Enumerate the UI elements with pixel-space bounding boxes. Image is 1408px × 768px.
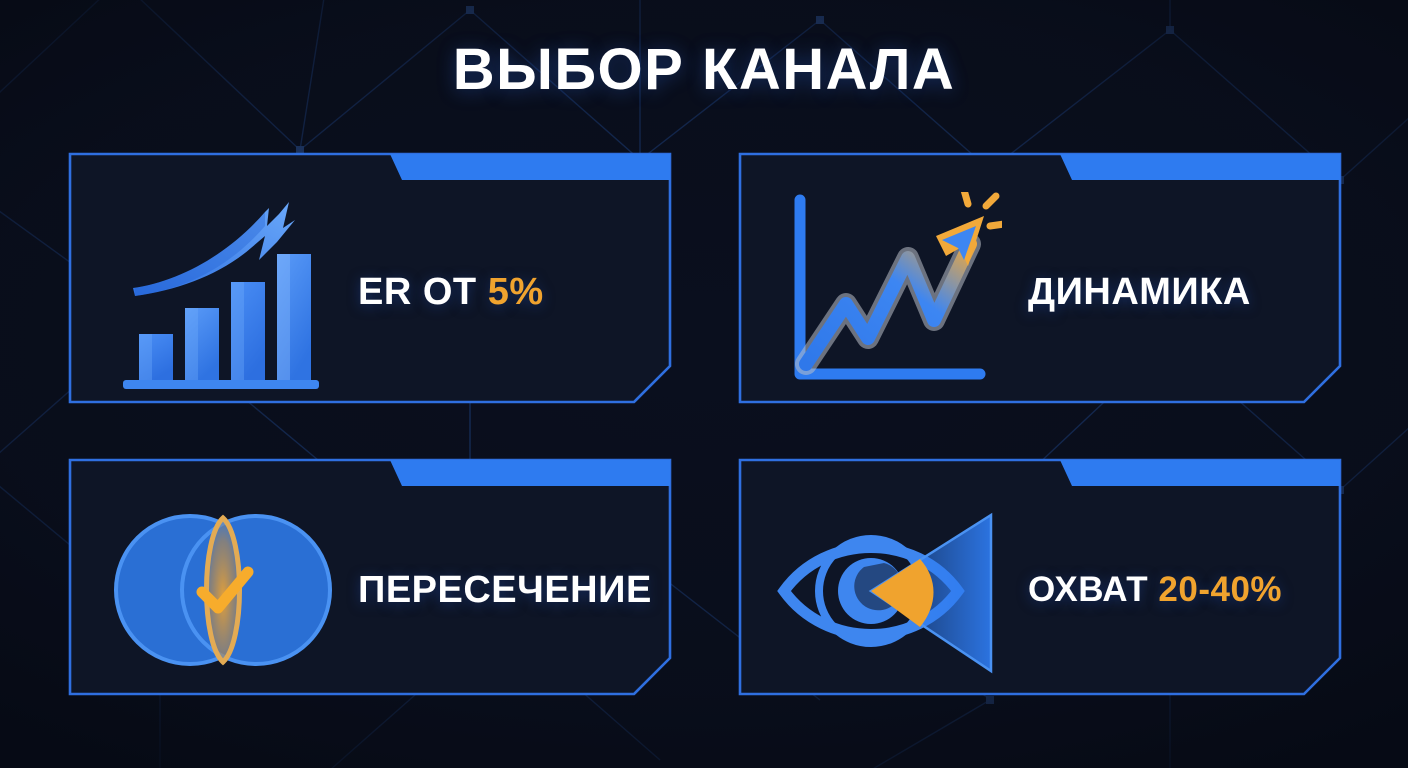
card-dynamics[interactable]: ДИНАМИКА — [738, 152, 1340, 418]
card-label-intersection-main: ПЕРЕСЕЧЕНИЕ — [358, 569, 652, 611]
card-label-reach-accent: 20-40% — [1158, 570, 1282, 609]
card-er[interactable]: ER ОТ 5% — [68, 152, 670, 418]
slide-stage: ВЫБОР КАНАЛА — [0, 0, 1408, 768]
card-label-intersection: ПЕРЕСЕЧЕНИЕ — [352, 569, 670, 612]
card-body-dynamics: ДИНАМИКА — [738, 152, 1340, 418]
card-label-reach-main: ОХВАТ — [1028, 570, 1158, 609]
venn-diagram-check-icon — [94, 472, 352, 708]
card-label-dynamics-main: ДИНАМИКА — [1028, 271, 1251, 313]
card-reach[interactable]: ОХВАТ 20-40% — [738, 458, 1340, 708]
card-body-er: ER ОТ 5% — [68, 152, 670, 418]
card-label-er: ER ОТ 5% — [352, 271, 670, 314]
card-label-er-main: ER ОТ — [358, 271, 488, 313]
card-label-reach: ОХВАТ 20-40% — [1022, 570, 1340, 610]
page-title: ВЫБОР КАНАЛА — [0, 36, 1408, 103]
line-chart-arrow-icon — [764, 166, 1022, 418]
card-label-dynamics: ДИНАМИКА — [1022, 271, 1340, 314]
cards-grid: ER ОТ 5% — [68, 152, 1340, 708]
eye-cone-icon — [764, 472, 1022, 708]
card-label-er-accent: 5% — [488, 271, 544, 313]
card-intersection[interactable]: ПЕРЕСЕЧЕНИЕ — [68, 458, 670, 708]
bar-chart-growth-icon — [94, 166, 352, 418]
card-body-reach: ОХВАТ 20-40% — [738, 458, 1340, 708]
card-body-intersection: ПЕРЕСЕЧЕНИЕ — [68, 458, 670, 708]
